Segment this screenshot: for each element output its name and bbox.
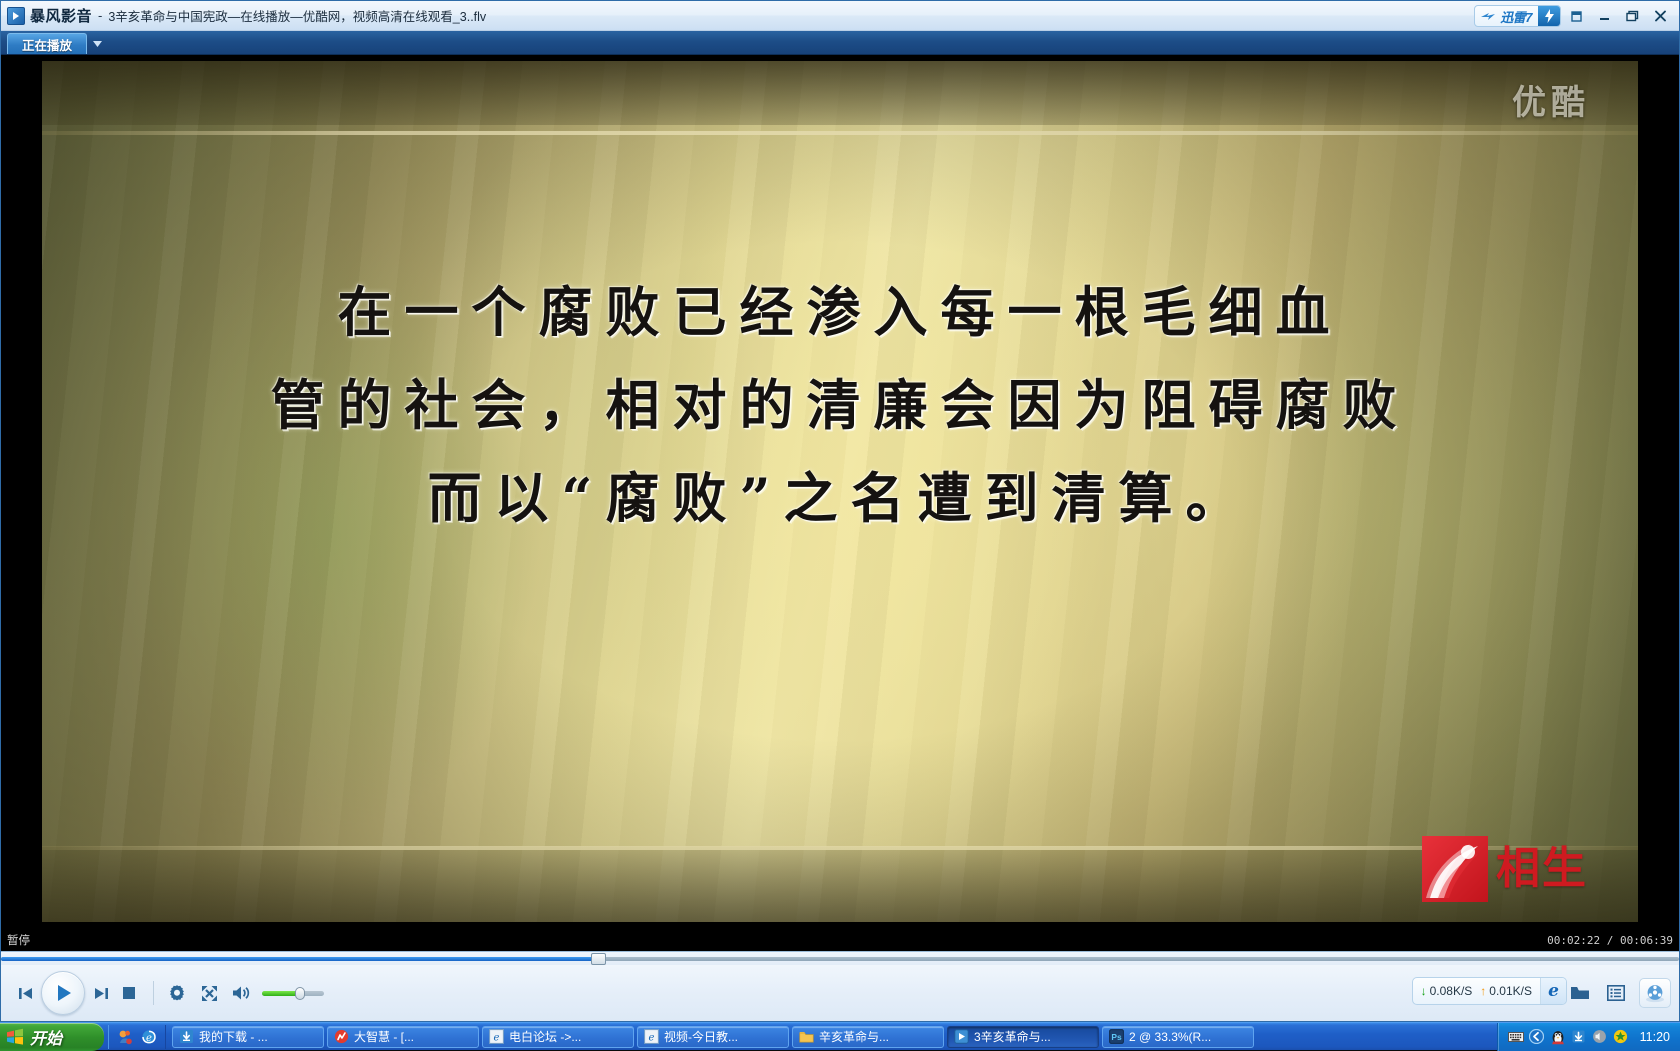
svg-text:e: e: [146, 1033, 152, 1044]
svg-text:e: e: [494, 1032, 500, 1043]
title-separator: -: [98, 8, 102, 23]
volume-tray-icon[interactable]: [1592, 1029, 1608, 1045]
svg-text:e: e: [649, 1032, 655, 1043]
seek-progress-fill: [1, 957, 598, 961]
playlist-icon[interactable]: [1603, 980, 1629, 1006]
restore-small-icon[interactable]: [1563, 5, 1589, 27]
volume-icon[interactable]: [228, 980, 254, 1006]
previous-track-icon[interactable]: [11, 979, 39, 1007]
controls-divider: [153, 981, 154, 1005]
windows-flag-icon: [6, 1028, 24, 1046]
internet-explorer-icon[interactable]: e: [1540, 978, 1566, 1004]
taskbar-item[interactable]: 3辛亥革命与...: [947, 1026, 1099, 1048]
start-button[interactable]: 开始: [0, 1023, 104, 1051]
playback-time-display: 00:02:22 / 00:06:39: [1547, 934, 1673, 947]
taskbar-item-label: 视频-今日教...: [664, 1028, 738, 1045]
video-top-shade: [42, 61, 1638, 125]
volume-fill: [262, 991, 299, 996]
dazhihui-icon: [334, 1029, 349, 1044]
window-controls: [1563, 1, 1673, 31]
station-logo-text: 相生: [1496, 847, 1588, 891]
show-hidden-icons-arrow[interactable]: [1529, 1029, 1545, 1045]
upload-speed-value: 0.01K/S: [1489, 984, 1532, 998]
taskbar-item[interactable]: Ps2 @ 33.3%(R...: [1102, 1026, 1254, 1048]
taskbar-item[interactable]: 辛亥革命与...: [792, 1026, 944, 1048]
video-bottom-divider: [42, 846, 1638, 850]
taskbar-item-label: 辛亥革命与...: [819, 1028, 889, 1045]
media-player-icon: [7, 7, 25, 25]
system-tray: 11:20: [1497, 1023, 1680, 1051]
chevron-down-icon[interactable]: [87, 33, 107, 54]
taskbar-item[interactable]: e视频-今日教...: [637, 1026, 789, 1048]
show-desktop-icon[interactable]: [117, 1028, 134, 1045]
folder-icon[interactable]: [1567, 980, 1593, 1006]
xunlei-bird-icon: [1480, 11, 1496, 22]
video-top-divider: [42, 131, 1638, 135]
quick-launch-bar: e: [108, 1025, 166, 1049]
youku-watermark: 优酷: [1512, 75, 1590, 124]
playback-status-line: 暂停 00:02:22 / 00:06:39: [1, 929, 1679, 951]
lightning-bolt-icon[interactable]: [1538, 6, 1560, 26]
close-icon[interactable]: [1647, 5, 1673, 27]
video-bottom-shade: [42, 847, 1638, 922]
volume-slider[interactable]: [262, 983, 324, 1003]
taskbar-item[interactable]: e电白论坛 ->...: [482, 1026, 634, 1048]
download-speed: ↓ 0.08K/S: [1421, 984, 1473, 998]
media-library-icon[interactable]: [1639, 978, 1671, 1008]
taskbar-item-label: 我的下载 - ...: [199, 1028, 268, 1045]
app-name: 暴风影音: [30, 5, 92, 26]
video-stage[interactable]: 优酷 在一个腐败已经渗入每一根毛细血 管的社会，相对的清廉会因为阻碍腐败 而以“…: [1, 55, 1679, 929]
media-player-window: 暴风影音 - 3辛亥革命与中国宪政—在线播放—优酷网，视频高清在线观看_3..f…: [0, 0, 1680, 1022]
volume-thumb[interactable]: [295, 987, 305, 1000]
subtitle-overlay: 在一个腐败已经渗入每一根毛细血 管的社会，相对的清廉会因为阻碍腐败 而以“腐败”…: [42, 266, 1638, 545]
media-player-icon: [954, 1029, 969, 1044]
xunlei-badge-left[interactable]: 迅雷7: [1475, 6, 1538, 26]
playback-controlbar: ↓ 0.08K/S ↑ 0.01K/S e: [1, 965, 1679, 1021]
gear-icon[interactable]: [164, 980, 190, 1006]
minimize-icon[interactable]: [1591, 5, 1617, 27]
internet-explorer-icon: e: [489, 1029, 504, 1044]
stop-icon[interactable]: [115, 979, 143, 1007]
folder-icon: [799, 1029, 814, 1044]
xunlei-badge[interactable]: 迅雷7: [1474, 5, 1561, 27]
phoenix-mark-icon: [1422, 836, 1488, 902]
xunlei-label: 迅雷7: [1500, 7, 1532, 26]
right-toolbar: [1567, 978, 1671, 1008]
fullscreen-icon[interactable]: [196, 980, 222, 1006]
video-frame[interactable]: 优酷 在一个腐败已经渗入每一根毛细血 管的社会，相对的清廉会因为阻碍腐败 而以“…: [42, 61, 1638, 922]
svg-text:Ps: Ps: [1111, 1032, 1122, 1042]
playback-state-text: 暂停: [7, 932, 30, 948]
station-logo: 相生: [1422, 836, 1588, 902]
photoshop-icon: Ps: [1109, 1029, 1124, 1044]
tray-clock[interactable]: 11:20: [1640, 1030, 1670, 1044]
internet-explorer-icon[interactable]: e: [140, 1028, 157, 1045]
taskbar: 开始 e 我的下载 - ...大智慧 - [...e电白论坛 ->...e视频-…: [0, 1022, 1680, 1050]
qq-penguin-icon[interactable]: [1550, 1029, 1566, 1045]
titlebar[interactable]: 暴风影音 - 3辛亥革命与中国宪政—在线播放—优酷网，视频高清在线观看_3..f…: [1, 1, 1679, 31]
taskbar-item-label: 大智慧 - [...: [354, 1028, 414, 1045]
arrow-down-icon: ↓: [1421, 984, 1427, 998]
download-tray-icon[interactable]: [1571, 1029, 1587, 1045]
tab-now-playing[interactable]: 正在播放: [7, 33, 87, 54]
seek-bar[interactable]: [1, 951, 1679, 965]
document-title: 3辛亥革命与中国宪政—在线播放—优酷网，视频高清在线观看_3..flv: [108, 6, 486, 25]
start-button-label: 开始: [30, 1025, 62, 1049]
seek-thumb[interactable]: [591, 953, 606, 965]
antivirus-shield-icon[interactable]: [1613, 1029, 1629, 1045]
taskbar-item-label: 3辛亥革命与...: [974, 1028, 1051, 1045]
taskbar-items: 我的下载 - ...大智慧 - [...e电白论坛 ->...e视频-今日教..…: [172, 1026, 1497, 1048]
subtitle-line-2: 管的社会，相对的清廉会因为阻碍腐败: [42, 359, 1638, 452]
taskbar-item[interactable]: 我的下载 - ...: [172, 1026, 324, 1048]
subtitle-line-1: 在一个腐败已经渗入每一根毛细血: [42, 266, 1638, 359]
taskbar-item[interactable]: 大智慧 - [...: [327, 1026, 479, 1048]
subtitle-line-3: 而以“腐败”之名遭到清算。: [42, 452, 1638, 545]
next-track-icon[interactable]: [87, 979, 115, 1007]
play-icon[interactable]: [41, 971, 85, 1015]
keyboard-layout-icon[interactable]: [1508, 1029, 1524, 1045]
internet-explorer-icon: e: [644, 1029, 659, 1044]
download-manager-icon: [179, 1029, 194, 1044]
tabstrip: 正在播放: [1, 31, 1679, 55]
network-speed-indicator[interactable]: ↓ 0.08K/S ↑ 0.01K/S e: [1412, 977, 1567, 1005]
download-speed-value: 0.08K/S: [1430, 984, 1473, 998]
taskbar-item-label: 电白论坛 ->...: [509, 1028, 581, 1045]
taskbar-item-label: 2 @ 33.3%(R...: [1129, 1030, 1211, 1044]
upload-speed: ↑ 0.01K/S: [1480, 984, 1532, 998]
maximize-icon[interactable]: [1619, 5, 1645, 27]
arrow-up-icon: ↑: [1480, 984, 1486, 998]
